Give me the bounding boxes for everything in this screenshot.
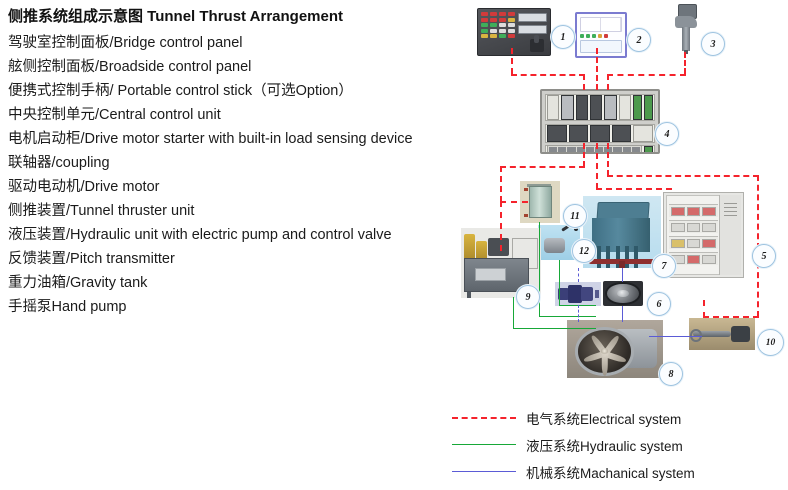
elec-line-panel2-down — [596, 48, 598, 90]
coupling-image — [555, 282, 601, 306]
elec-line-ccu-left-down — [583, 143, 585, 167]
hyd-line-gravity-down — [539, 222, 540, 317]
badge-7: 7 — [652, 254, 676, 278]
badge-8: 8 — [659, 362, 683, 386]
item-label-1: 驾驶室控制面板/Bridge control panel — [8, 31, 458, 55]
drive-motor-fin-1 — [597, 246, 601, 268]
item-label-12: 手摇泵Hand pump — [8, 295, 458, 319]
legend-swatch-hydraulic-icon — [452, 444, 516, 445]
item-label-9: 液压装置/Hydraulic unit with electric pump a… — [8, 223, 458, 247]
mech-line-thruster-to-pitchtx — [649, 336, 702, 337]
hydraulic-nameplate — [475, 268, 506, 281]
badge-11: 11 — [563, 204, 587, 228]
hyd-line-handpump-down — [559, 260, 560, 306]
item-label-2: 舷侧控制面板/Broadside control panel — [8, 55, 458, 79]
diagram-page: 侧推系统组成示意图 Tunnel Thrust Arrangement 驾驶室控… — [0, 0, 788, 490]
legend-row-mechanical: 机械系统Machanical system — [452, 458, 788, 485]
elec-line-pitchtx-up — [703, 300, 705, 318]
broadside-keypad — [580, 40, 622, 53]
pitch-transmitter-image — [689, 318, 755, 350]
elec-line-panel3-left — [607, 74, 686, 76]
elec-line-to-pitchtx — [703, 316, 759, 318]
broadside-screen — [580, 17, 622, 32]
legend-label-mechanical: 机械系统Machanical system — [526, 462, 695, 482]
elec-line-gravity-in — [500, 201, 528, 203]
ccu-terminal-row — [545, 145, 655, 154]
item-label-3: 便携式控制手柄/ Portable control stick（可选Option… — [8, 79, 458, 103]
drive-motor-shaft — [619, 261, 625, 268]
mech-line-coupling-top — [578, 268, 579, 282]
node-pitch-transmitter[interactable] — [689, 318, 755, 350]
elec-line-hydunit-down — [500, 201, 502, 251]
legend-label-electrical: 电气系统Electrical system — [526, 408, 681, 428]
item-label-4: 中央控制单元/Central control unit — [8, 103, 458, 127]
thruster-propeller-ring — [575, 327, 635, 376]
node-drive-motor[interactable] — [583, 196, 661, 268]
elec-line-ccu-mid-down — [596, 143, 598, 189]
item-label-11: 重力油箱/Gravity tank — [8, 271, 458, 295]
pitch-transmitter-head — [731, 326, 749, 342]
drive-motor-fin-2 — [606, 246, 610, 268]
hyd-line-gravity-to-thruster — [539, 316, 596, 317]
badge-5: 5 — [752, 244, 776, 268]
system-diagram: 1 2 3 — [455, 0, 788, 400]
ccu-relay-row — [545, 124, 655, 143]
hyd-line-hydunit-to-thruster — [513, 328, 596, 329]
node-bridge-control-panel[interactable] — [477, 8, 543, 48]
coupling-hub-image — [603, 281, 643, 306]
drive-motor-image — [583, 196, 661, 268]
bridge-displays — [518, 13, 547, 37]
elec-line-panel1-to-ccu — [583, 74, 585, 90]
gravity-tank-inlet — [524, 188, 528, 191]
gravity-tank-outlet — [524, 214, 528, 217]
elec-line-ccu-to-gravity — [500, 166, 585, 168]
node-portable-control-stick[interactable] — [670, 4, 702, 54]
hydraulic-leg-left — [467, 292, 471, 298]
bridge-joystick-icon — [530, 39, 544, 52]
item-label-6: 联轴器/coupling — [8, 151, 458, 175]
legend-swatch-electrical-icon — [452, 417, 516, 419]
badge-10: 10 — [757, 329, 784, 356]
mech-line-hub-to-thruster — [622, 306, 623, 322]
broadside-control-panel-image — [575, 12, 627, 58]
badge-4: 4 — [655, 122, 679, 146]
elec-line-gravity-branch-down — [500, 166, 502, 202]
elec-line-panel1-right — [511, 74, 585, 76]
broadside-indicator-leds — [580, 34, 622, 38]
elec-line-panel3-down — [684, 52, 686, 74]
coupling-flange — [605, 282, 640, 306]
legend-label-hydraulic: 液压系统Hydraulic system — [526, 435, 683, 455]
badge-1: 1 — [551, 25, 575, 49]
portable-control-stick-image — [670, 4, 702, 54]
drive-motor-fin-5 — [634, 246, 638, 268]
elec-line-panel1-down — [511, 48, 513, 74]
elec-line-panel3-to-ccu — [607, 74, 609, 90]
item-label-7: 驱动电动机/Drive motor — [8, 175, 458, 199]
drive-motor-fin-4 — [625, 246, 629, 268]
bridge-keypad — [481, 12, 515, 38]
mech-line-motor-to-hub — [622, 268, 623, 282]
elec-line-ccu-to-starter — [607, 175, 759, 177]
node-coupling-hub[interactable] — [603, 281, 643, 306]
node-central-control-unit[interactable] — [540, 89, 650, 144]
node-broadside-control-panel[interactable] — [575, 12, 617, 48]
badge-12: 12 — [572, 239, 596, 263]
central-control-unit-image — [540, 89, 660, 154]
legend-row-hydraulic: 液压系统Hydraulic system — [452, 431, 788, 458]
badge-2: 2 — [627, 28, 651, 52]
mech-line-coupling-bottom — [578, 305, 579, 322]
hand-pump-body — [544, 238, 565, 253]
drive-motor-body — [592, 218, 650, 253]
item-label-10: 反馈装置/Pitch transmitter — [8, 247, 458, 271]
item-label-8: 侧推装置/Tunnel thruster unit — [8, 199, 458, 223]
badge-9: 9 — [516, 285, 540, 309]
legend-swatch-mechanical-icon — [452, 471, 516, 472]
starter-door — [719, 195, 741, 275]
page-title: 侧推系统组成示意图 Tunnel Thrust Arrangement — [8, 6, 458, 28]
legend: 电气系统Electrical system 液压系统Hydraulic syst… — [452, 404, 788, 485]
hydraulic-pump-motor — [488, 238, 509, 256]
bridge-control-panel-image — [477, 8, 551, 56]
elec-line-ccu-right-down — [607, 143, 609, 176]
ccu-plc-row — [545, 94, 655, 121]
badge-3: 3 — [701, 32, 725, 56]
legend-row-electrical: 电气系统Electrical system — [452, 404, 788, 431]
hyd-line-hydunit-down — [513, 297, 514, 329]
node-coupling-shaft[interactable] — [555, 282, 601, 306]
legend-text-panel: 侧推系统组成示意图 Tunnel Thrust Arrangement 驾驶室控… — [8, 6, 458, 319]
gravity-tank-body — [529, 186, 552, 218]
item-label-5: 电机启动柜/Drive motor starter with built-in … — [8, 127, 458, 151]
elec-line-ccu-to-motor — [596, 188, 672, 190]
stick-shaft — [682, 27, 690, 51]
badge-6: 6 — [647, 292, 671, 316]
